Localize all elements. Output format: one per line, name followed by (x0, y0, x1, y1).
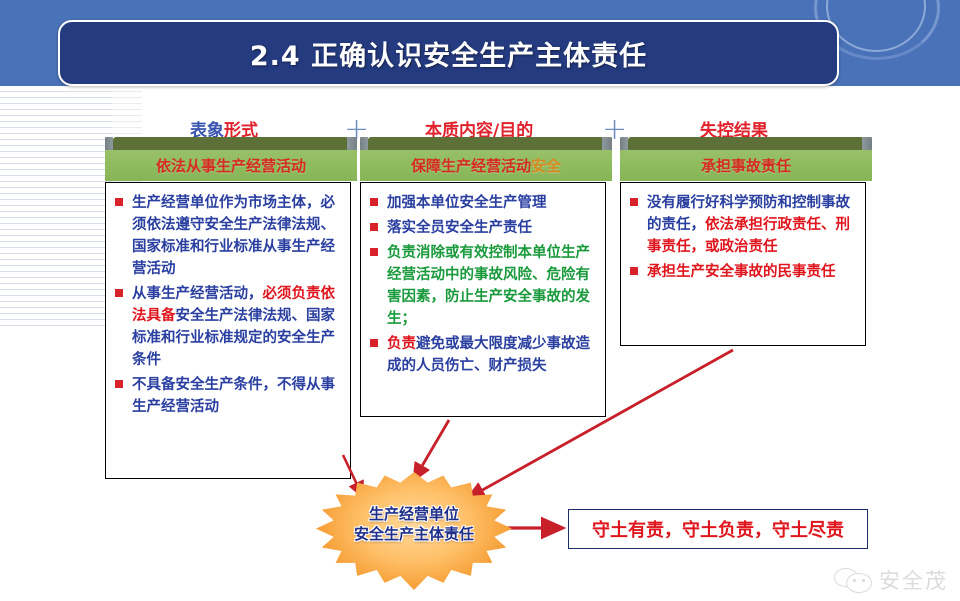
banner-column-2: 失控结果 承担事故责任 (620, 137, 872, 181)
bullet-run: 避免或最大限度减少事故造成的人员伤亡、财产损失 (387, 336, 590, 374)
banner-label-1: 保障生产经营活动安全 (411, 155, 561, 176)
bullet-run: 加强本单位安全生产管理 (387, 195, 547, 211)
banner-label-0: 依法从事生产经营活动 (156, 155, 306, 176)
bullet-run: 承担生产安全事故的民事责任 (647, 264, 836, 280)
starburst-callout: 生产经营单位 安全生产主体责任 (316, 472, 512, 590)
bullet-item: 生产经营单位作为市场主体，必须依法遵守安全生产法律法规、国家标准和行业标准从事生… (112, 192, 342, 280)
arrow-middle-to-star (415, 420, 449, 478)
watermark-text: 安全茂 (879, 565, 948, 595)
bullet-item: 落实全员安全生产责任 (367, 217, 597, 239)
banner-column-0: 表象形式 依法从事生产经营活动 (105, 137, 357, 181)
bullet-item: 不具备安全生产条件，不得从事生产经营活动 (112, 374, 342, 418)
banner-body-1: 保障生产经营活动安全 (360, 150, 612, 181)
bullet-run: 落实全员安全生产责任 (387, 220, 532, 236)
bullet-run: 不具备安全生产条件，不得从事生产经营活动 (132, 377, 335, 415)
banner-label-2: 承担事故责任 (701, 155, 791, 176)
bullet-run: 从事生产经营活动， (132, 286, 263, 302)
bullet-item: 承担生产安全事故的民事责任 (627, 261, 857, 283)
bullet-list-1: 加强本单位安全生产管理落实全员安全生产责任负责消除或有效控制本单位生产经营活动中… (367, 192, 597, 377)
starburst-line-1: 生产经营单位 (316, 504, 512, 524)
wechat-icon (834, 566, 872, 594)
banner-body-2: 承担事故责任 (620, 150, 872, 181)
banner-body-0: 依法从事生产经营活动 (105, 150, 357, 181)
bullet-item: 负责避免或最大限度减少事故造成的人员伤亡、财产损失 (367, 333, 597, 377)
starburst-line-2: 安全生产主体责任 (316, 524, 512, 544)
bullet-run: 负责 (387, 336, 416, 352)
content-box-2: 没有履行好科学预防和控制事故的责任，依法承担行政责任、刑事责任，或政治责任承担生… (620, 182, 866, 346)
bullet-item: 没有履行好科学预防和控制事故的责任，依法承担行政责任、刑事责任，或政治责任 (627, 192, 857, 258)
bullet-run: 生产经营单位作为市场主体，必须依法遵守安全生产法律法规、国家标准和行业标准从事生… (132, 195, 335, 277)
content-box-0: 生产经营单位作为市场主体，必须依法遵守安全生产法律法规、国家标准和行业标准从事生… (105, 182, 351, 479)
bullet-list-2: 没有履行好科学预防和控制事故的责任，依法承担行政责任、刑事责任，或政治责任承担生… (627, 192, 857, 283)
slogan-box: 守土有责，守土负责，守土尽责 (568, 509, 868, 549)
bullet-item: 加强本单位安全生产管理 (367, 192, 597, 214)
banner-column-1: 本质内容/目的 保障生产经营活动安全 (360, 137, 612, 181)
band-mask (0, 86, 960, 112)
slogan-text: 守土有责，守土负责，守土尽责 (592, 516, 844, 542)
bullet-run: 负责消除或有效控制本单位生产经营活动中的事故风险、危险有害因素，防止生产安全事故… (387, 245, 590, 327)
slide-title: 2.4 正确认识安全生产主体责任 (250, 34, 647, 73)
starburst-label: 生产经营单位 安全生产主体责任 (316, 504, 512, 545)
bullet-item: 从事生产经营活动，必须负责依法具备安全生产法律法规、国家标准和行业标准规定的安全… (112, 283, 342, 371)
bullet-item: 负责消除或有效控制本单位生产经营活动中的事故风险、危险有害因素，防止生产安全事故… (367, 242, 597, 330)
bullet-list-0: 生产经营单位作为市场主体，必须依法遵守安全生产法律法规、国家标准和行业标准从事生… (112, 192, 342, 418)
slide-title-bar: 2.4 正确认识安全生产主体责任 (58, 20, 839, 86)
content-box-1: 加强本单位安全生产管理落实全员安全生产责任负责消除或有效控制本单位生产经营活动中… (360, 182, 606, 417)
decorative-stripes-left (0, 86, 112, 326)
watermark: 安全茂 (834, 565, 948, 595)
